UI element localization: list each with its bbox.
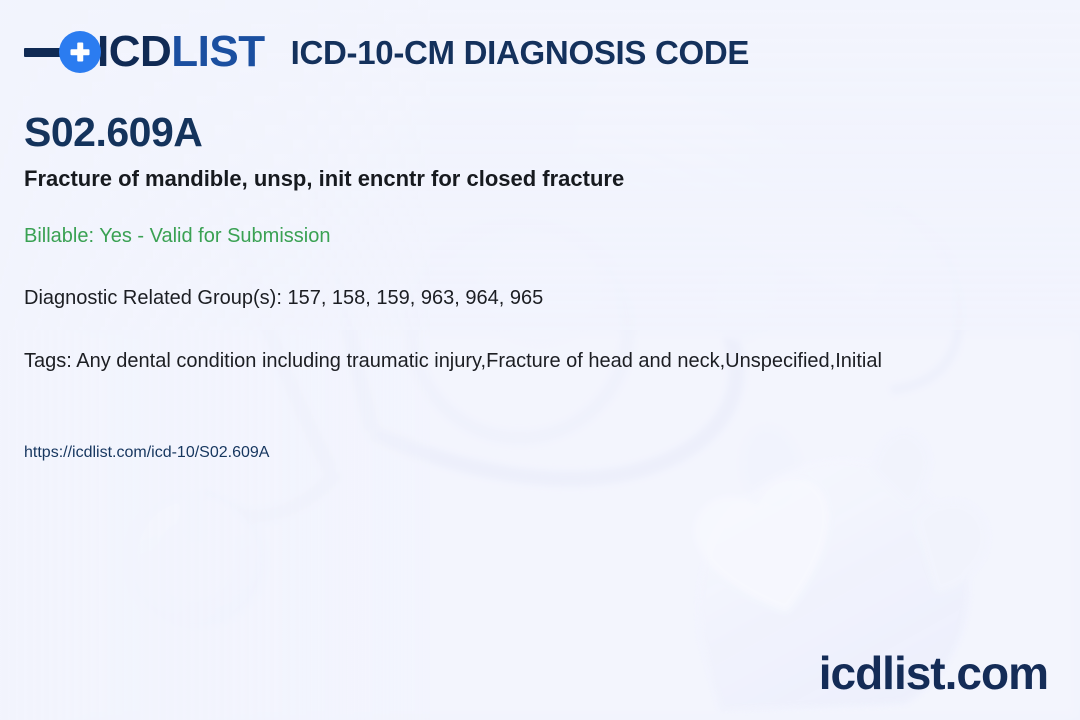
source-url[interactable]: https://icdlist.com/icd-10/S02.609A [24, 443, 269, 462]
diagnosis-code: S02.609A [24, 110, 202, 155]
logo-word-icd: ICD [97, 27, 171, 76]
icd-code-card: ICDLIST ICD-10-CM DIAGNOSIS CODE S02.609… [0, 0, 1080, 720]
plus-circle-icon [59, 31, 101, 73]
drg-list: Diagnostic Related Group(s): 157, 158, 1… [24, 286, 543, 310]
logo-word-list: LIST [171, 27, 264, 76]
header: ICDLIST ICD-10-CM DIAGNOSIS CODE [24, 24, 749, 80]
logo-wordmark: ICDLIST [97, 30, 265, 74]
billable-status: Billable: Yes - Valid for Submission [24, 224, 330, 248]
tags-list: Tags: Any dental condition including tra… [24, 349, 1080, 373]
page-title: ICD-10-CM DIAGNOSIS CODE [291, 36, 750, 69]
brand-footer: icdlist.com [819, 650, 1048, 696]
icdlist-logo[interactable]: ICDLIST [24, 24, 265, 80]
diagnosis-description: Fracture of mandible, unsp, init encntr … [24, 166, 624, 192]
